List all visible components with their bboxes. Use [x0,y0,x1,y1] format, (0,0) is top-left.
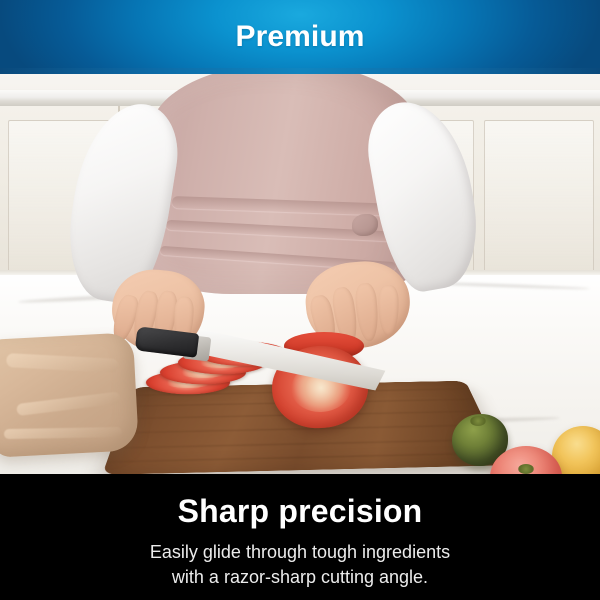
person [0,74,600,334]
finger [379,285,399,335]
napkin-fold [16,391,121,416]
header-banner: Premium [0,0,600,74]
product-feature-card: Premium [0,0,600,600]
apron-knot [352,214,378,236]
linen-napkin [0,332,139,457]
finger [354,282,380,342]
product-photo [0,74,600,474]
apron-tie [172,196,402,216]
napkin-fold [4,427,122,439]
napkin-fold [6,353,119,373]
footer-subtitle-line-2: with a razor-sharp cutting angle. [0,565,600,590]
footer-subtitle: Easily glide through tough ingredients w… [0,540,600,590]
header-title: Premium [0,19,600,55]
footer-subtitle-line-1: Easily glide through tough ingredients [0,540,600,565]
tomato-stem [518,464,534,474]
footer-caption-bar: Sharp precision Easily glide through tou… [0,474,600,600]
tomato-stem [470,416,486,426]
footer-heading: Sharp precision [0,492,600,530]
